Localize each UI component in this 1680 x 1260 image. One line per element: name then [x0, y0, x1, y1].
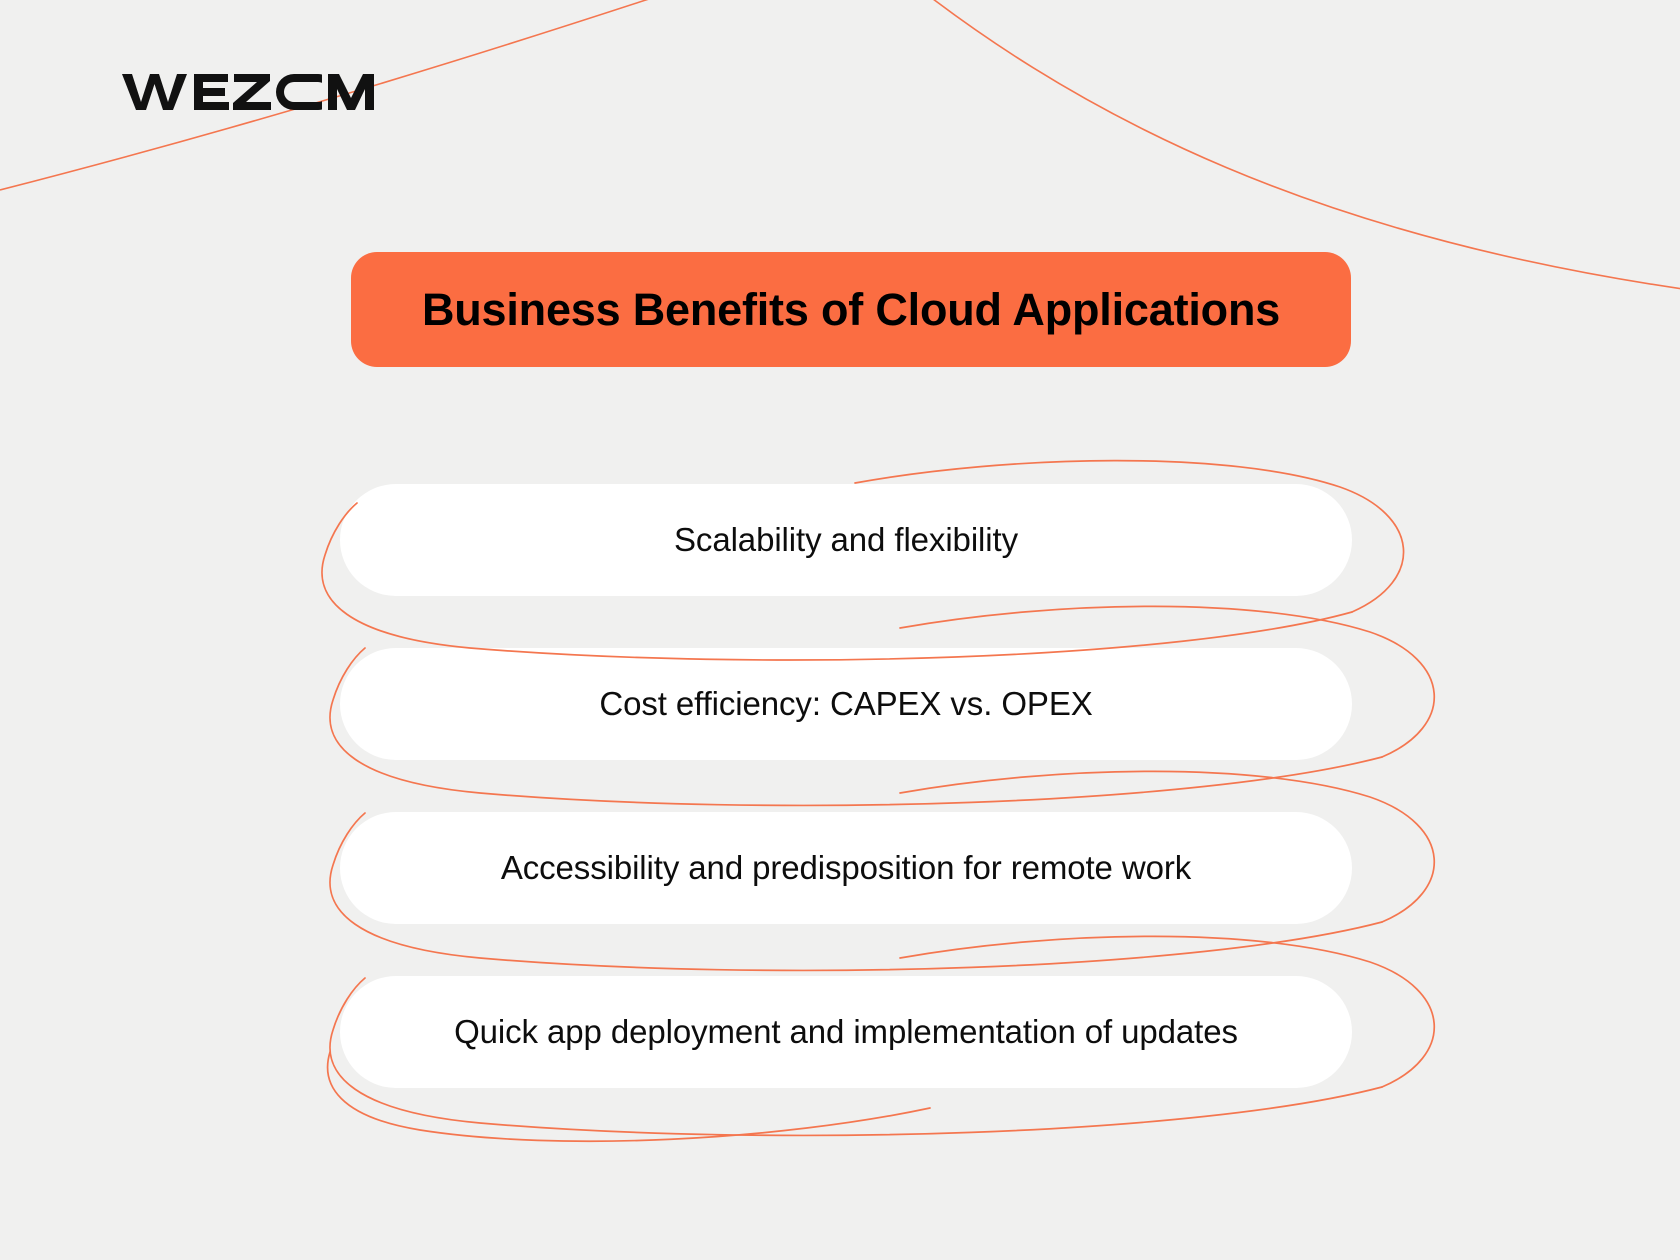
benefit-card[interactable]: Quick app deployment and implementation … [340, 976, 1352, 1088]
benefit-card-list: Scalability and flexibility Cost efficie… [340, 484, 1352, 1088]
benefit-card-label: Cost efficiency: CAPEX vs. OPEX [599, 685, 1092, 723]
wezom-logo-m [324, 68, 416, 114]
wezom-logo-mark [122, 68, 322, 114]
wezom-logo: WEZOM [122, 68, 416, 114]
top-arc-two [860, 0, 1680, 290]
benefit-card-label: Accessibility and predisposition for rem… [501, 849, 1191, 887]
benefit-card[interactable]: Cost efficiency: CAPEX vs. OPEX [340, 648, 1352, 760]
benefit-card[interactable]: Accessibility and predisposition for rem… [340, 812, 1352, 924]
title-banner: Business Benefits of Cloud Applications [351, 252, 1351, 367]
benefit-card-label: Quick app deployment and implementation … [454, 1013, 1238, 1051]
infographic-canvas: WEZOM Business Benefits of Cloud Applica… [0, 0, 1680, 1260]
benefit-card-label: Scalability and flexibility [674, 521, 1018, 559]
benefit-card[interactable]: Scalability and flexibility [340, 484, 1352, 596]
page-title: Business Benefits of Cloud Applications [422, 284, 1280, 336]
